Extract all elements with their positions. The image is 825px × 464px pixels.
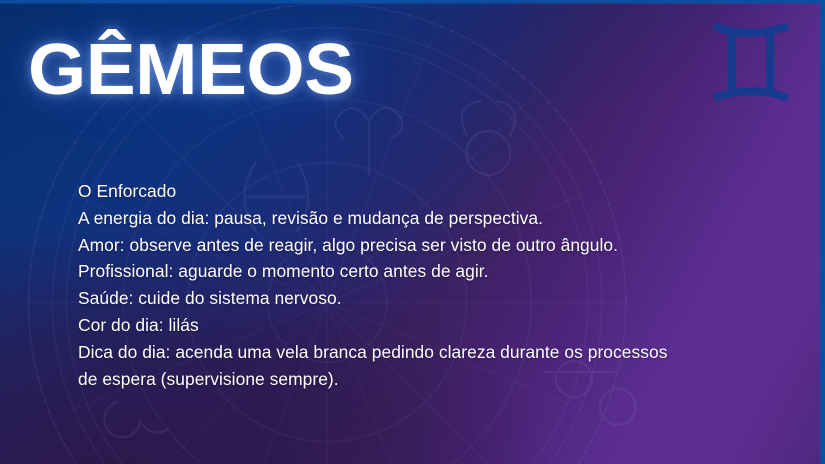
reading-line: O Enforcado: [78, 178, 703, 205]
gemini-zodiac-icon: [706, 14, 796, 110]
reading-line: Saúde: cuide do sistema nervoso.: [78, 285, 703, 312]
reading-line: Profissional: aguarde o momento certo an…: [78, 258, 703, 285]
reading-line: Amor: observe antes de reagir, algo prec…: [78, 232, 703, 259]
reading-line: Cor do dia: lilás: [78, 312, 703, 339]
horoscope-card: GÊMEOS O Enforcado A energia do dia: pau…: [0, 0, 825, 464]
reading-line: A energia do dia: pausa, revisão e mudan…: [78, 205, 703, 232]
horoscope-text: O Enforcado A energia do dia: pausa, rev…: [78, 178, 703, 392]
sign-title: GÊMEOS: [28, 34, 354, 106]
reading-line: Dica do dia: acenda uma vela branca pedi…: [78, 339, 703, 393]
